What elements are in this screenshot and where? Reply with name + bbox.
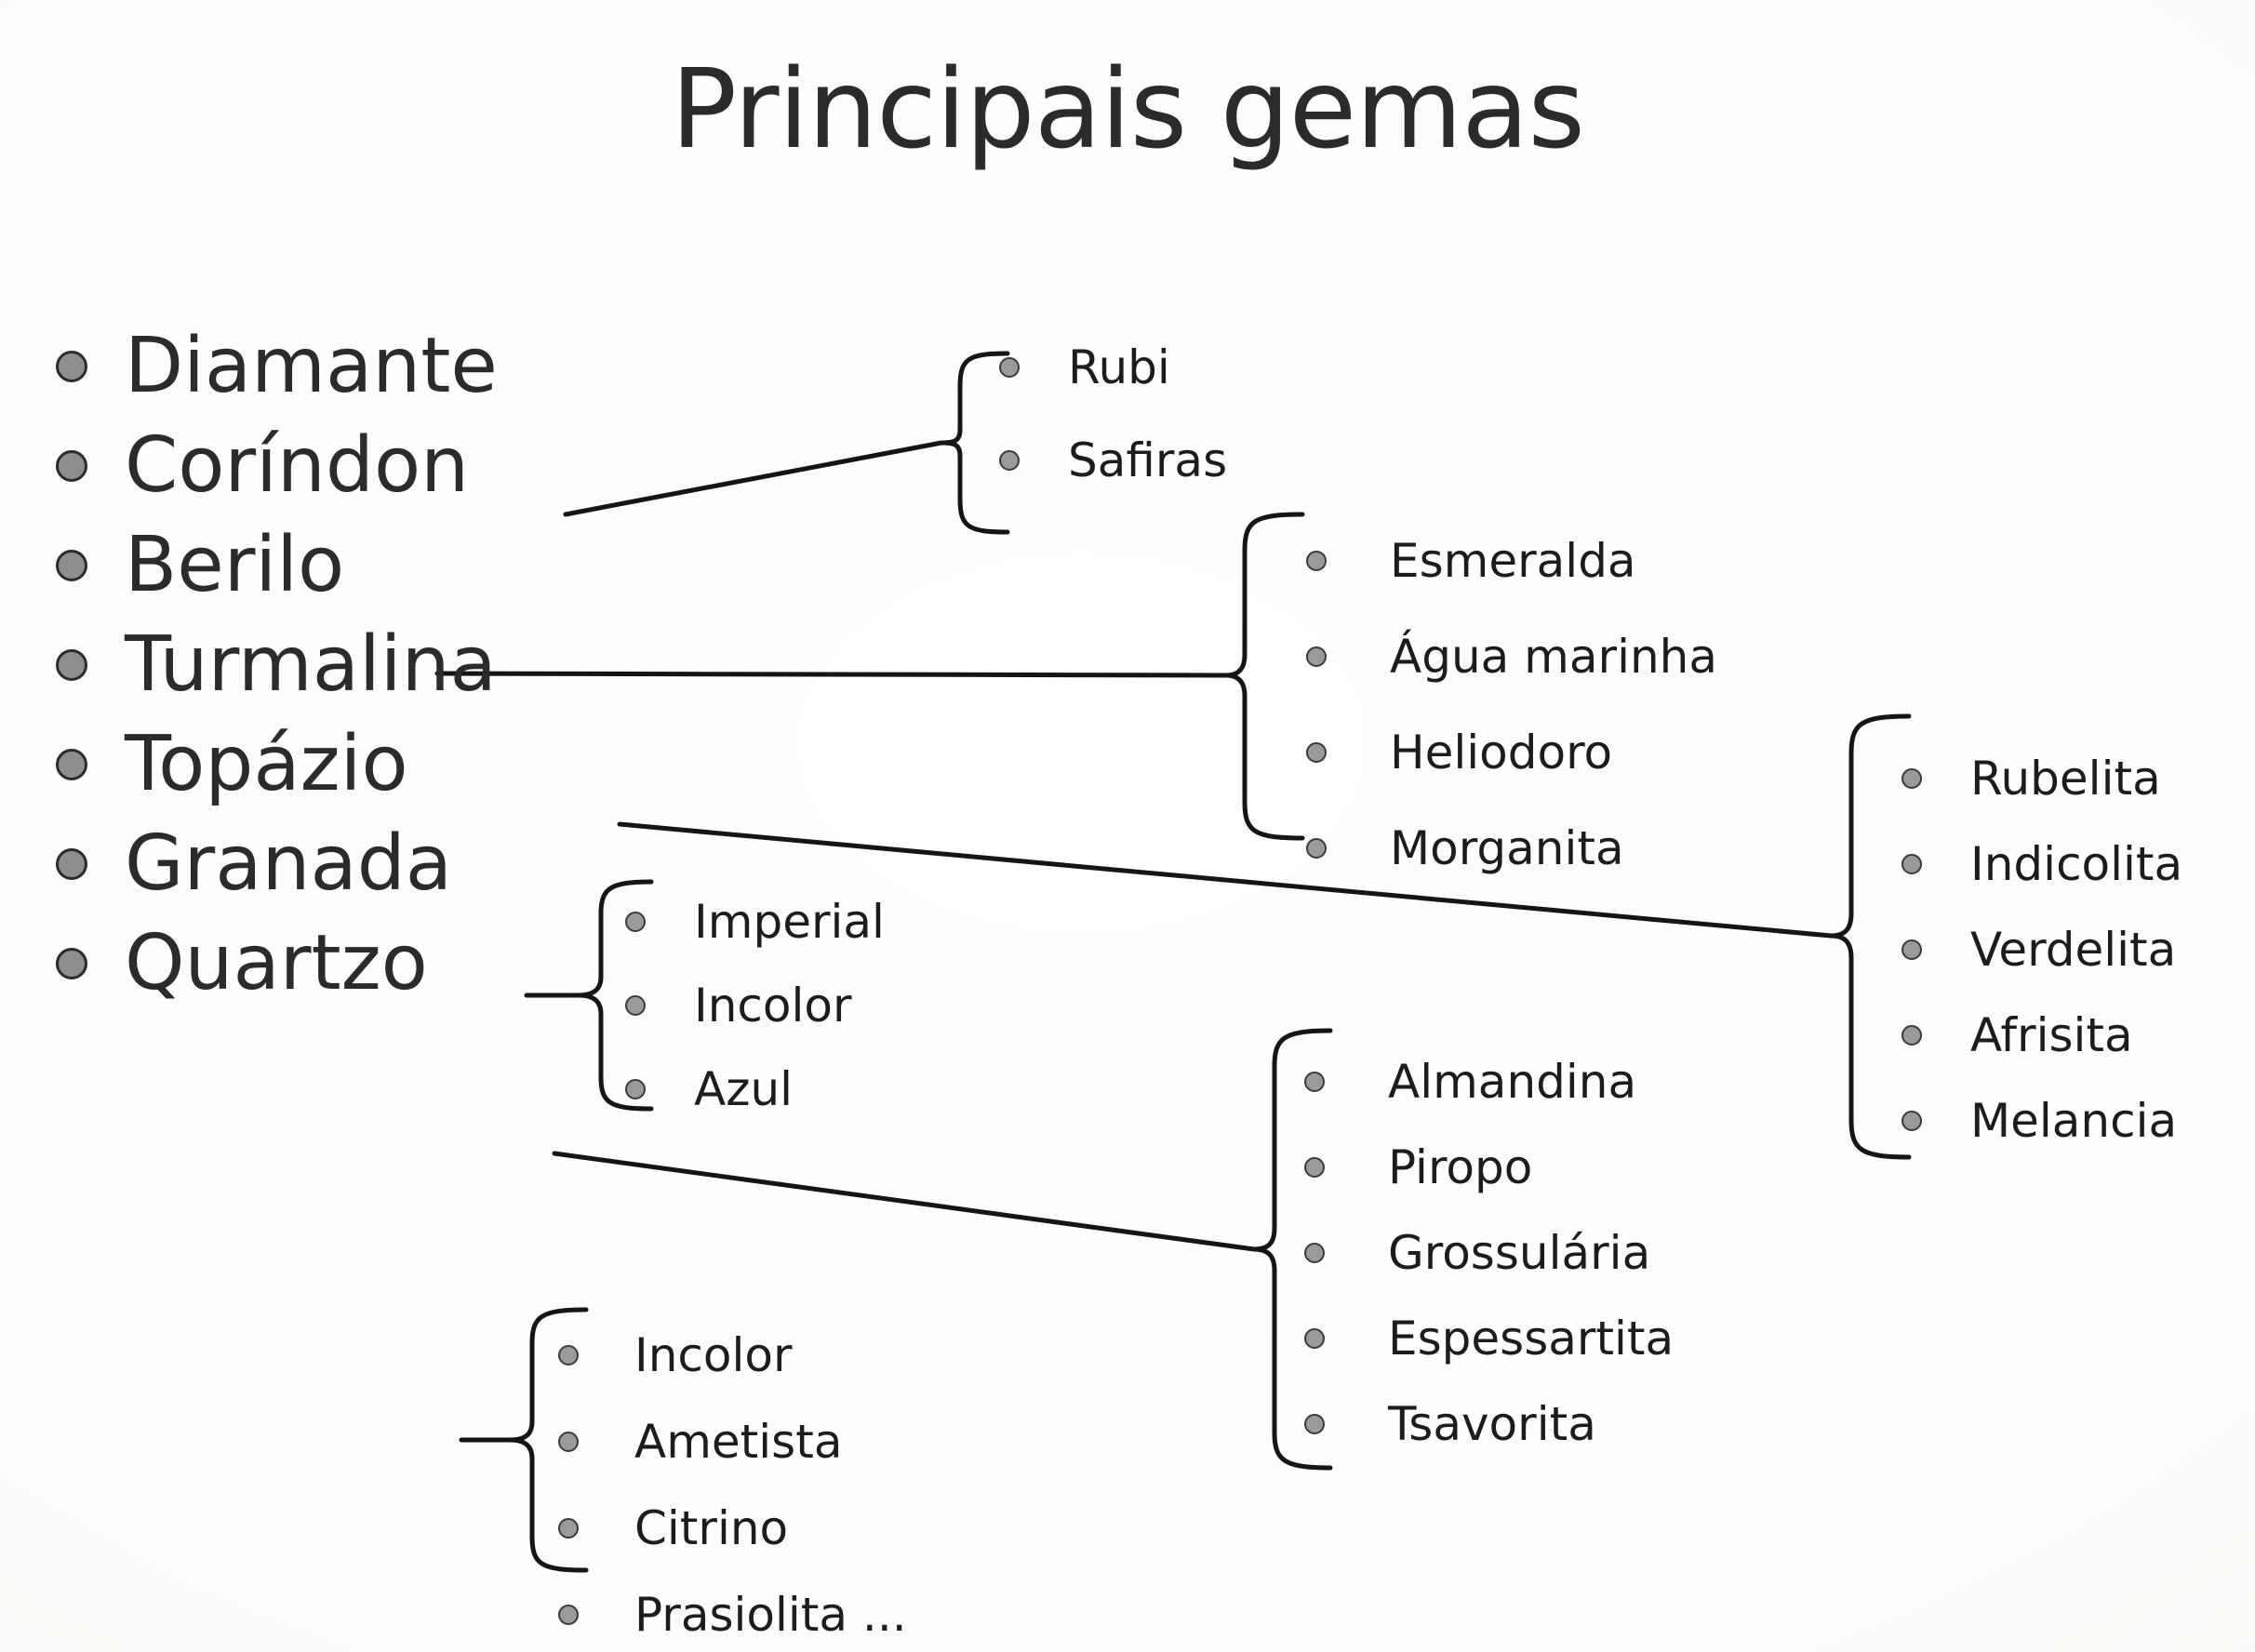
bullet-icon [1901,768,1922,789]
bullet-icon [999,450,1020,471]
bullet-icon [1304,1157,1325,1178]
brace-corindon [941,353,1007,532]
main-list-item[interactable]: Coríndon [56,416,651,515]
sub-list-item-label: Água marinha [1390,633,1717,680]
brace-berilo [1226,514,1302,838]
sub-list-item-label: Espessartita [1388,1315,1674,1362]
main-list-item[interactable]: Topázio [56,714,651,814]
sub-list-item[interactable]: Safiras [999,437,1227,484]
bullet-icon [1901,854,1922,874]
sub-list-item-label: Azul [694,1066,793,1112]
main-list-item[interactable]: Diamante [56,316,651,416]
main-list-item[interactable]: Turmalina [56,615,651,714]
sub-list-item[interactable]: Rubi [999,344,1227,391]
sub-list-item-label: Prasiolita ... [634,1592,907,1638]
subgroup-corindon: Rubi Safiras [999,344,1227,484]
sub-list-item[interactable]: Azul [625,1066,885,1112]
sub-list-item[interactable]: Verdelita [1901,926,2182,973]
bullet-icon [558,1518,579,1539]
sub-list-item-label: Heliodoro [1390,729,1612,776]
bullet-icon [625,995,646,1016]
sub-list-item-label: Almandina [1388,1059,1636,1105]
sub-list-item-label: Ametista [634,1419,842,1465]
subgroup-turmalina: Rubelita Indicolita Verdelita Afrisita M… [1901,755,2182,1144]
bullet-icon [56,948,87,979]
sub-list-item[interactable]: Afrisita [1901,1012,2182,1059]
sub-list-item-label: Esmeralda [1390,538,1636,584]
subgroup-quartzo: Incolor Ametista Citrino Prasiolita ... [558,1332,907,1638]
main-list-item-label: Coríndon [125,428,469,504]
sub-list-item[interactable]: Morganita [1306,825,1717,872]
sub-list-item[interactable]: Prasiolita ... [558,1592,907,1638]
sub-list-item-label: Piropo [1388,1144,1532,1191]
bullet-icon [1306,838,1327,859]
main-list-item[interactable]: Granada [56,814,651,913]
sub-list-item-label: Indicolita [1970,841,2182,887]
subgroup-topazio: Imperial Incolor Azul [625,899,885,1112]
sub-list-item[interactable]: Rubelita [1901,755,2182,802]
sub-list-item[interactable]: Espessartita [1304,1315,1674,1362]
main-list-item[interactable]: Berilo [56,515,651,615]
main-list-item-label: Turmalina [125,627,497,703]
page-title: Principais gemas [0,45,2255,173]
bullet-icon [56,450,87,482]
bullet-icon [1306,551,1327,571]
main-list-item[interactable]: Quartzo [56,913,651,1013]
main-list-item-label: Granada [125,826,452,902]
bullet-icon [56,550,87,581]
sub-list-item[interactable]: Citrino [558,1505,907,1552]
bullet-icon [558,1345,579,1366]
sub-list-item[interactable]: Ametista [558,1419,907,1465]
sub-list-item-label: Safiras [1068,437,1227,484]
sub-list-item-label: Grossulária [1388,1230,1650,1276]
sub-list-item[interactable]: Esmeralda [1306,538,1717,584]
main-list-item-label: Quartzo [125,926,428,1002]
bullet-icon [1304,1328,1325,1349]
sub-list-item-label: Rubi [1068,344,1170,391]
connector-granada [554,1153,1254,1249]
sub-list-item[interactable]: Incolor [625,982,885,1029]
sub-list-item[interactable]: Incolor [558,1332,907,1379]
sub-list-item[interactable]: Grossulária [1304,1230,1674,1276]
main-gem-list: Diamante Coríndon Berilo Turmalina Topáz… [56,316,651,1013]
sub-list-item-label: Melancia [1970,1098,2177,1144]
sub-list-item[interactable]: Almandina [1304,1059,1674,1105]
bullet-icon [1304,1243,1325,1263]
bullet-icon [625,1079,646,1099]
sub-list-item-label: Verdelita [1970,926,2176,973]
sub-list-item[interactable]: Tsavorita [1304,1401,1674,1447]
bullet-icon [1901,1111,1922,1131]
sub-list-item-label: Afrisita [1970,1012,2133,1059]
sub-list-item[interactable]: Indicolita [1901,841,2182,887]
sub-list-item[interactable]: Heliodoro [1306,729,1717,776]
bullet-icon [1306,742,1327,763]
bullet-icon [56,749,87,780]
bullet-icon [625,912,646,932]
bullet-icon [1304,1414,1325,1434]
sub-list-item-label: Citrino [634,1505,788,1552]
bullet-icon [1901,1025,1922,1046]
bullet-icon [558,1605,579,1625]
main-list-item-label: Topázio [125,726,408,803]
slide-canvas: Principais gemas Diamante [0,0,2255,1652]
bullet-icon [56,848,87,880]
main-list-item-label: Berilo [125,527,344,604]
brace-turmalina [1831,716,1909,1157]
sub-list-item[interactable]: Melancia [1901,1098,2182,1144]
sub-list-item-label: Rubelita [1970,755,2161,802]
sub-list-item-label: Imperial [694,899,885,945]
sub-list-item-label: Incolor [634,1332,793,1379]
sub-list-item-label: Incolor [694,982,852,1029]
sub-list-item-label: Tsavorita [1388,1401,1596,1447]
bullet-icon [56,351,87,382]
sub-list-item[interactable]: Piropo [1304,1144,1674,1191]
bullet-icon [56,649,87,681]
bullet-icon [1304,1072,1325,1092]
subgroup-granada: Almandina Piropo Grossulária Espessartit… [1304,1059,1674,1447]
bullet-icon [1901,939,1922,960]
bullet-icon [999,357,1020,378]
bullet-icon [558,1432,579,1452]
main-list-item-label: Diamante [125,328,498,405]
sub-list-item-label: Morganita [1390,825,1624,872]
subgroup-berilo: Esmeralda Água marinha Heliodoro Morgani… [1306,538,1717,872]
bullet-icon [1306,646,1327,667]
sub-list-item[interactable]: Imperial [625,899,885,945]
sub-list-item[interactable]: Água marinha [1306,633,1717,680]
